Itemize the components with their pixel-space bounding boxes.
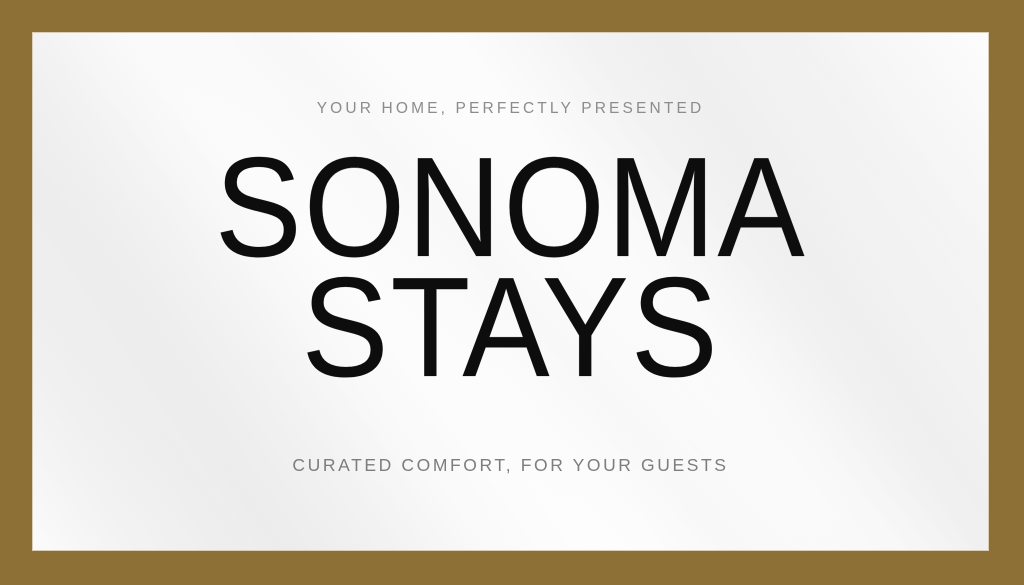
footer-tagline: CURATED COMFORT, FOR YOUR GUESTS [33,457,988,475]
wordmark-line-stays: STAYS [215,261,807,396]
eyebrow-tagline: YOUR HOME, PERFECTLY PRESENTED [317,101,705,117]
brand-wordmark: SONOMA STAYS [189,141,832,397]
content-panel: YOUR HOME, PERFECTLY PRESENTED SONOMA ST… [33,33,988,550]
title-slide: YOUR HOME, PERFECTLY PRESENTED SONOMA ST… [0,0,1024,585]
